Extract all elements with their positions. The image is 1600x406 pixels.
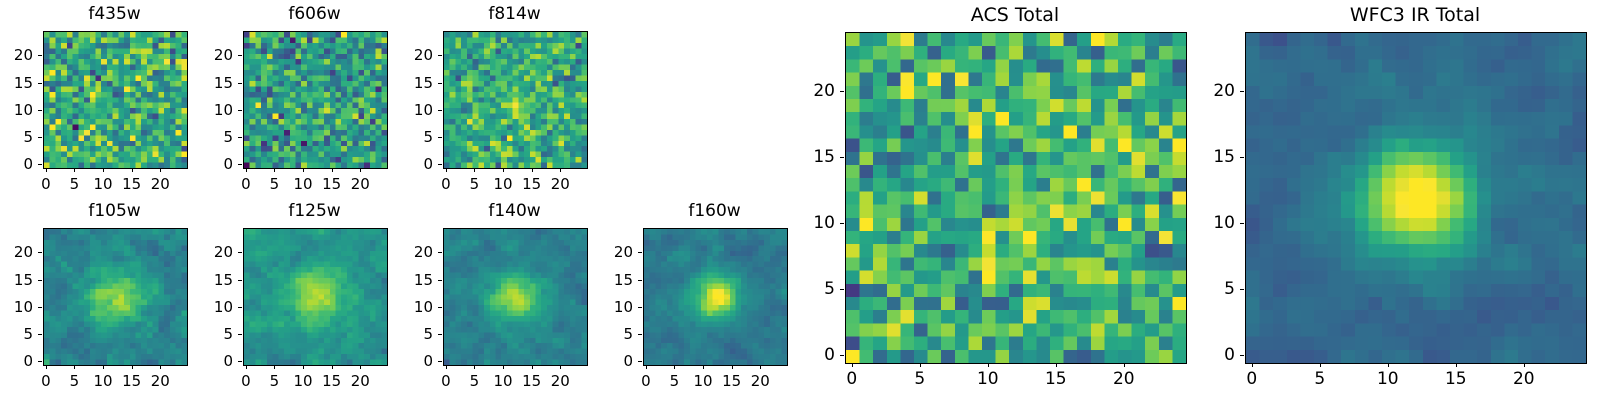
y-ticklabel-f140w-3: 15	[377, 270, 433, 290]
y-tick-acs-total-0	[840, 355, 844, 356]
x-tick-wfc3-ir-total-2	[1388, 363, 1389, 367]
heatmap-axes-f105w	[43, 228, 188, 366]
y-ticklabel-wfc3-ir-total-3: 15	[1179, 147, 1235, 167]
y-ticklabel-f160w-0: 0	[577, 351, 633, 371]
y-tick-f606w-2	[238, 110, 242, 111]
x-ticklabel-acs-total-3: 15	[1031, 369, 1081, 389]
y-tick-f160w-2	[638, 307, 642, 308]
y-tick-f160w-4	[638, 252, 642, 253]
y-ticklabel-wfc3-ir-total-1: 5	[1179, 279, 1235, 299]
y-ticklabel-f814w-0: 0	[377, 154, 433, 174]
y-tick-f435w-4	[38, 55, 42, 56]
y-tick-f814w-4	[438, 55, 442, 56]
x-tick-acs-total-2	[988, 363, 989, 367]
x-ticklabel-f814w-4: 20	[535, 174, 585, 194]
x-tick-f105w-1	[74, 365, 75, 369]
y-ticklabel-f435w-0: 0	[0, 154, 33, 174]
heatmap-image-f814w	[444, 32, 587, 168]
x-tick-f105w-4	[160, 365, 161, 369]
y-ticklabel-wfc3-ir-total-4: 20	[1179, 81, 1235, 101]
y-tick-f606w-3	[238, 83, 242, 84]
x-ticklabel-wfc3-ir-total-0: 0	[1227, 369, 1277, 389]
heatmap-axes-f160w	[643, 228, 788, 366]
y-ticklabel-f606w-4: 20	[177, 45, 233, 65]
x-tick-f160w-3	[732, 365, 733, 369]
y-ticklabel-f105w-2: 10	[0, 297, 33, 317]
x-tick-f814w-1	[474, 168, 475, 172]
x-tick-f435w-1	[74, 168, 75, 172]
y-ticklabel-acs-total-3: 15	[779, 147, 835, 167]
x-tick-f814w-2	[503, 168, 504, 172]
y-ticklabel-f160w-2: 10	[577, 297, 633, 317]
y-ticklabel-f125w-2: 10	[177, 297, 233, 317]
y-tick-f606w-0	[238, 164, 242, 165]
y-tick-wfc3-ir-total-4	[1240, 91, 1244, 92]
y-ticklabel-f435w-1: 5	[0, 127, 33, 147]
x-tick-f606w-0	[246, 168, 247, 172]
y-ticklabel-f606w-2: 10	[177, 100, 233, 120]
x-tick-f125w-1	[274, 365, 275, 369]
y-tick-acs-total-4	[840, 91, 844, 92]
x-tick-wfc3-ir-total-3	[1456, 363, 1457, 367]
y-ticklabel-f105w-4: 20	[0, 242, 33, 262]
panel-wfc3-ir-total: WFC3 IR Total0510152005101520	[1175, 4, 1600, 404]
y-ticklabel-f814w-3: 15	[377, 73, 433, 93]
x-tick-f105w-3	[132, 365, 133, 369]
x-tick-f606w-1	[274, 168, 275, 172]
y-tick-wfc3-ir-total-2	[1240, 223, 1244, 224]
y-ticklabel-f606w-1: 5	[177, 127, 233, 147]
x-tick-f814w-4	[560, 168, 561, 172]
x-tick-f606w-4	[360, 168, 361, 172]
x-tick-f814w-0	[446, 168, 447, 172]
heatmap-axes-f140w	[443, 228, 588, 366]
y-ticklabel-wfc3-ir-total-0: 0	[1179, 345, 1235, 365]
y-ticklabel-f125w-0: 0	[177, 351, 233, 371]
y-ticklabel-f814w-4: 20	[377, 45, 433, 65]
y-ticklabel-acs-total-2: 10	[779, 213, 835, 233]
heatmap-axes-f435w	[43, 31, 188, 169]
y-tick-f140w-0	[438, 361, 442, 362]
x-tick-f160w-1	[674, 365, 675, 369]
y-ticklabel-f160w-1: 5	[577, 324, 633, 344]
y-ticklabel-f435w-4: 20	[0, 45, 33, 65]
y-tick-f140w-2	[438, 307, 442, 308]
heatmap-axes-acs-total	[845, 32, 1187, 364]
y-tick-f125w-3	[238, 280, 242, 281]
heatmap-axes-f125w	[243, 228, 388, 366]
x-tick-f435w-3	[132, 168, 133, 172]
x-tick-acs-total-0	[852, 363, 853, 367]
x-ticklabel-acs-total-0: 0	[827, 369, 877, 389]
x-tick-f435w-2	[103, 168, 104, 172]
y-ticklabel-f125w-4: 20	[177, 242, 233, 262]
x-tick-f160w-2	[703, 365, 704, 369]
y-ticklabel-f606w-3: 15	[177, 73, 233, 93]
y-ticklabel-f125w-3: 15	[177, 270, 233, 290]
heatmap-axes-wfc3-ir-total	[1245, 32, 1587, 364]
y-tick-f814w-3	[438, 83, 442, 84]
x-tick-f125w-0	[246, 365, 247, 369]
y-ticklabel-f125w-1: 5	[177, 324, 233, 344]
y-tick-f435w-1	[38, 137, 42, 138]
x-tick-f140w-2	[503, 365, 504, 369]
y-ticklabel-f105w-1: 5	[0, 324, 33, 344]
y-tick-f125w-1	[238, 334, 242, 335]
heatmap-image-f105w	[44, 229, 187, 365]
y-ticklabel-acs-total-0: 0	[779, 345, 835, 365]
y-ticklabel-f814w-2: 10	[377, 100, 433, 120]
x-tick-wfc3-ir-total-1	[1320, 363, 1321, 367]
y-tick-f125w-0	[238, 361, 242, 362]
x-tick-f125w-4	[360, 365, 361, 369]
y-tick-f814w-0	[438, 164, 442, 165]
x-tick-f606w-2	[303, 168, 304, 172]
y-ticklabel-acs-total-4: 20	[779, 81, 835, 101]
x-tick-f105w-2	[103, 365, 104, 369]
x-tick-wfc3-ir-total-0	[1252, 363, 1253, 367]
x-tick-acs-total-3	[1056, 363, 1057, 367]
x-tick-wfc3-ir-total-4	[1524, 363, 1525, 367]
y-tick-f105w-1	[38, 334, 42, 335]
y-tick-wfc3-ir-total-0	[1240, 355, 1244, 356]
y-tick-acs-total-3	[840, 157, 844, 158]
y-ticklabel-f140w-1: 5	[377, 324, 433, 344]
heatmap-image-f125w	[244, 229, 387, 365]
y-ticklabel-f140w-2: 10	[377, 297, 433, 317]
y-ticklabel-f435w-2: 10	[0, 100, 33, 120]
y-ticklabel-f140w-4: 20	[377, 242, 433, 262]
y-ticklabel-wfc3-ir-total-2: 10	[1179, 213, 1235, 233]
y-tick-f435w-2	[38, 110, 42, 111]
y-tick-f105w-4	[38, 252, 42, 253]
x-ticklabel-wfc3-ir-total-1: 5	[1295, 369, 1345, 389]
heatmap-axes-f814w	[443, 31, 588, 169]
x-tick-f160w-4	[760, 365, 761, 369]
heatmap-image-wfc3-ir-total	[1246, 33, 1586, 363]
y-ticklabel-f105w-0: 0	[0, 351, 33, 371]
x-tick-f435w-4	[160, 168, 161, 172]
x-ticklabel-acs-total-2: 10	[963, 369, 1013, 389]
heatmap-image-f140w	[444, 229, 587, 365]
y-tick-f435w-0	[38, 164, 42, 165]
y-tick-f160w-0	[638, 361, 642, 362]
panel-title-wfc3-ir-total: WFC3 IR Total	[1175, 4, 1600, 26]
y-ticklabel-f140w-0: 0	[377, 351, 433, 371]
y-tick-f140w-4	[438, 252, 442, 253]
heatmap-image-f606w	[244, 32, 387, 168]
figure-canvas: f435w0510152005101520f606w05101520051015…	[0, 0, 1600, 400]
y-ticklabel-f435w-3: 15	[0, 73, 33, 93]
x-ticklabel-wfc3-ir-total-2: 10	[1363, 369, 1413, 389]
y-ticklabel-f160w-4: 20	[577, 242, 633, 262]
heatmap-image-acs-total	[846, 33, 1186, 363]
y-tick-f606w-1	[238, 137, 242, 138]
x-ticklabel-wfc3-ir-total-3: 15	[1431, 369, 1481, 389]
y-ticklabel-acs-total-1: 5	[779, 279, 835, 299]
panel-f814w: f814w0510152005101520	[373, 3, 656, 209]
y-tick-acs-total-2	[840, 223, 844, 224]
x-tick-f160w-0	[646, 365, 647, 369]
x-ticklabel-acs-total-1: 5	[895, 369, 945, 389]
x-ticklabel-wfc3-ir-total-4: 20	[1499, 369, 1549, 389]
x-tick-f140w-4	[560, 365, 561, 369]
y-ticklabel-f160w-3: 15	[577, 270, 633, 290]
y-tick-f125w-4	[238, 252, 242, 253]
y-tick-f435w-3	[38, 83, 42, 84]
x-tick-f125w-3	[332, 365, 333, 369]
y-tick-f606w-4	[238, 55, 242, 56]
x-tick-f140w-0	[446, 365, 447, 369]
x-tick-f814w-3	[532, 168, 533, 172]
y-tick-f160w-1	[638, 334, 642, 335]
y-tick-f140w-1	[438, 334, 442, 335]
y-tick-acs-total-1	[840, 289, 844, 290]
y-tick-f814w-1	[438, 137, 442, 138]
x-tick-f105w-0	[46, 365, 47, 369]
y-ticklabel-f606w-0: 0	[177, 154, 233, 174]
y-ticklabel-f814w-1: 5	[377, 127, 433, 147]
y-tick-f105w-3	[38, 280, 42, 281]
x-tick-f435w-0	[46, 168, 47, 172]
x-ticklabel-acs-total-4: 20	[1099, 369, 1149, 389]
y-tick-f160w-3	[638, 280, 642, 281]
y-tick-wfc3-ir-total-1	[1240, 289, 1244, 290]
heatmap-image-f435w	[44, 32, 187, 168]
x-tick-acs-total-1	[920, 363, 921, 367]
heatmap-axes-f606w	[243, 31, 388, 169]
y-tick-f105w-0	[38, 361, 42, 362]
heatmap-image-f160w	[644, 229, 787, 365]
y-tick-f105w-2	[38, 307, 42, 308]
x-tick-f125w-2	[303, 365, 304, 369]
y-tick-f140w-3	[438, 280, 442, 281]
x-tick-acs-total-4	[1124, 363, 1125, 367]
x-tick-f140w-3	[532, 365, 533, 369]
y-ticklabel-f105w-3: 15	[0, 270, 33, 290]
y-tick-wfc3-ir-total-3	[1240, 157, 1244, 158]
x-tick-f140w-1	[474, 365, 475, 369]
y-tick-f814w-2	[438, 110, 442, 111]
x-tick-f606w-3	[332, 168, 333, 172]
panel-title-f814w: f814w	[373, 3, 656, 25]
y-tick-f125w-2	[238, 307, 242, 308]
